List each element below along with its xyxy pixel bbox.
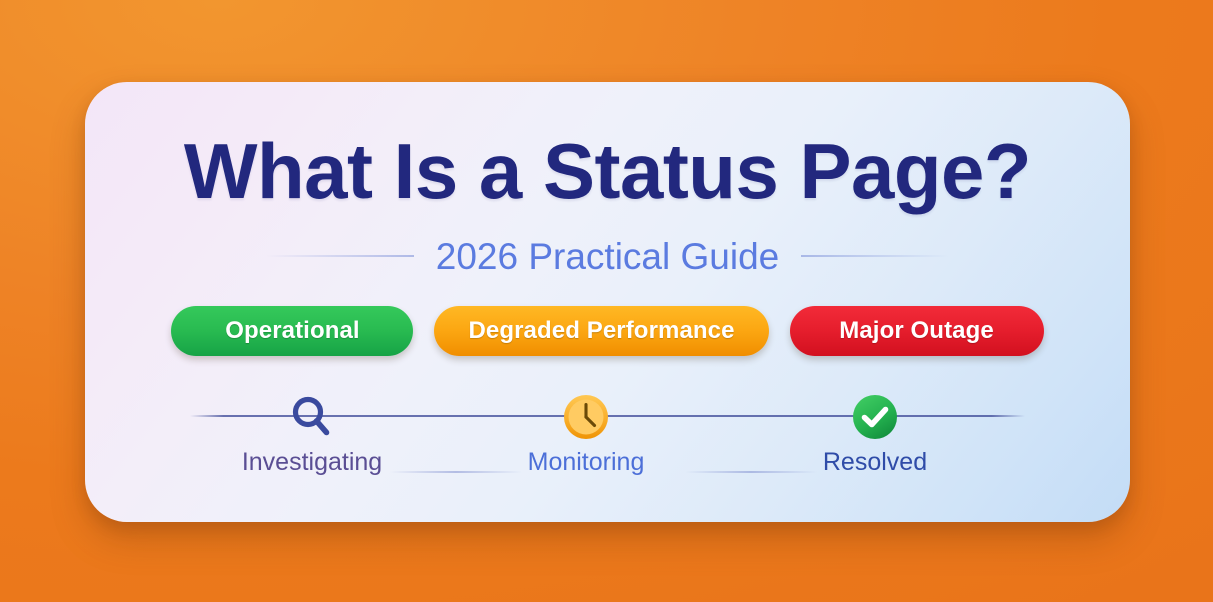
- status-badge-major-outage[interactable]: Major Outage: [790, 306, 1044, 356]
- subtitle-rule-left: [266, 255, 414, 257]
- status-badge-degraded-performance[interactable]: Degraded Performance: [434, 306, 768, 356]
- incident-timeline: Investigating: [190, 392, 1025, 492]
- timeline-step-label: Resolved: [823, 450, 927, 475]
- check-circle-icon: [850, 392, 900, 442]
- timeline-step-resolved[interactable]: Resolved: [795, 392, 955, 475]
- magnifying-glass-icon: [287, 392, 337, 442]
- status-page-card: What Is a Status Page? 2026 Practical Gu…: [85, 82, 1130, 522]
- clock-icon: [561, 392, 611, 442]
- subtitle-row: 2026 Practical Guide: [85, 232, 1130, 280]
- timeline-step-label: Investigating: [242, 450, 382, 475]
- page-title: What Is a Status Page?: [85, 129, 1130, 213]
- timeline-label-rule-1: [390, 471, 522, 473]
- timeline-step-investigating[interactable]: Investigating: [232, 392, 392, 475]
- status-badge-group: Operational Degraded Performance Major O…: [85, 306, 1130, 356]
- status-badge-operational[interactable]: Operational: [171, 306, 413, 356]
- timeline-step-label: Monitoring: [528, 450, 645, 475]
- subtitle-rule-right: [801, 255, 949, 257]
- page-subtitle: 2026 Practical Guide: [436, 238, 779, 275]
- timeline-step-monitoring[interactable]: Monitoring: [506, 392, 666, 475]
